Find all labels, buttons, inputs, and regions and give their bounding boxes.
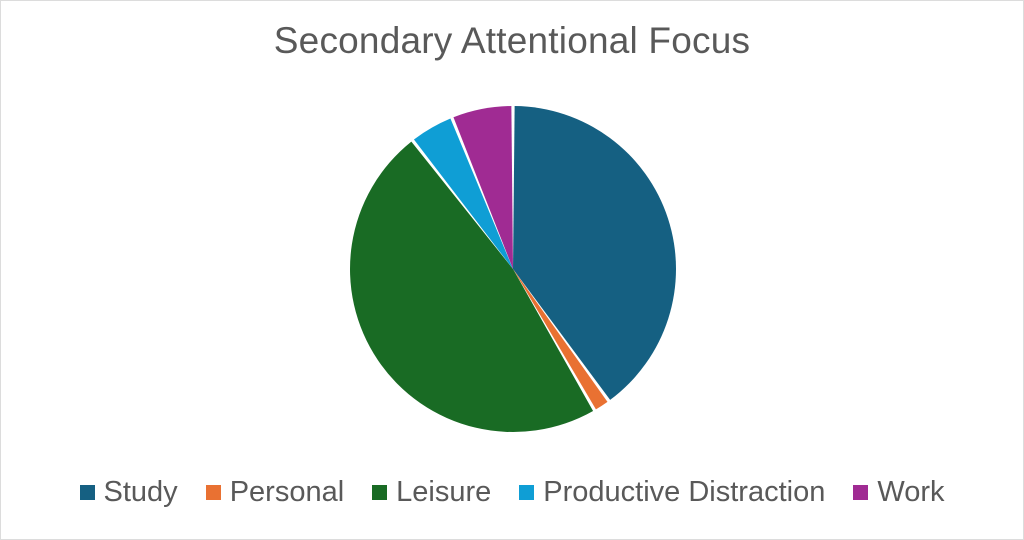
chart-title: Secondary Attentional Focus <box>274 21 750 62</box>
pie-plot-area <box>1 89 1024 449</box>
legend-item-personal[interactable]: Personal <box>206 478 344 507</box>
chart-legend: StudyPersonalLeisureProductive Distracti… <box>1 478 1023 507</box>
legend-square-marker <box>519 485 534 500</box>
legend-item-study[interactable]: Study <box>80 478 178 507</box>
legend-square-marker <box>853 485 868 500</box>
legend-square-marker <box>372 485 387 500</box>
legend-item-label: Productive Distraction <box>543 478 825 507</box>
legend-item-productive-distraction[interactable]: Productive Distraction <box>519 478 825 507</box>
legend-item-label: Leisure <box>396 478 491 507</box>
chart-container: Secondary Attentional Focus StudyPersona… <box>0 0 1024 540</box>
legend-item-leisure[interactable]: Leisure <box>372 478 491 507</box>
legend-square-marker <box>206 485 221 500</box>
legend-item-label: Study <box>104 478 178 507</box>
pie-chart-svg <box>1 89 1024 449</box>
legend-item-label: Work <box>877 478 944 507</box>
legend-item-work[interactable]: Work <box>853 478 944 507</box>
pie-slice-group <box>350 106 676 432</box>
legend-item-label: Personal <box>230 478 344 507</box>
legend-square-marker <box>80 485 95 500</box>
